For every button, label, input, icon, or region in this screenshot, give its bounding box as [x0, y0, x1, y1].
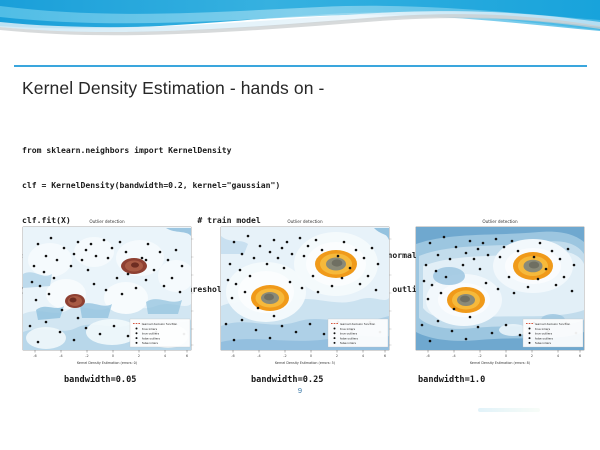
legend-label: true outliers	[535, 332, 553, 336]
legend-label: learned decision function	[340, 322, 376, 326]
legend-label: false outliers	[142, 336, 161, 340]
svg-text:4: 4	[557, 354, 559, 358]
svg-text:6: 6	[186, 354, 188, 358]
legend-label: false inliers	[535, 341, 552, 345]
svg-text:6: 6	[579, 354, 581, 358]
legend-label: true inliers	[535, 327, 551, 331]
svg-text:-6: -6	[426, 354, 429, 358]
cluster-region-a	[447, 287, 485, 313]
title-divider	[14, 65, 587, 67]
svg-text:-2: -2	[283, 354, 286, 358]
plot-legend: learned decision function true inliers t…	[523, 319, 583, 347]
x-axis-ticks	[233, 350, 385, 353]
x-axis-tick-labels: -6-4-2 024 6	[33, 354, 188, 358]
code-line: clf = KernelDensity(bandwidth=0.2, kerne…	[22, 180, 582, 192]
svg-text:-4: -4	[59, 354, 62, 358]
plot-title: Outlier detection	[287, 219, 323, 224]
y-axis-ticks	[191, 239, 194, 345]
cluster-region-b	[315, 250, 357, 278]
svg-text:0: 0	[310, 354, 312, 358]
plot-panel-bandwidth-1-0: Outlier detection	[409, 214, 591, 374]
plot-legend: learned decision function true inliers t…	[328, 319, 388, 347]
legend-label: false inliers	[142, 341, 159, 345]
plot-title: Outlier detection	[482, 219, 518, 224]
page-number: 9	[0, 386, 600, 395]
page-title: Kernel Density Estimation - hands on -	[22, 78, 324, 99]
legend-label: true inliers	[340, 327, 356, 331]
svg-text:2: 2	[138, 354, 140, 358]
cluster-region-a	[65, 294, 85, 308]
svg-text:-2: -2	[85, 354, 88, 358]
svg-text:2: 2	[531, 354, 533, 358]
x-axis-ticks	[35, 350, 187, 353]
legend-label: false inliers	[340, 341, 357, 345]
svg-text:-4: -4	[257, 354, 260, 358]
svg-text:0: 0	[112, 354, 114, 358]
cluster-region-b	[121, 258, 147, 274]
footer-artifact	[478, 408, 540, 412]
svg-text:4: 4	[362, 354, 364, 358]
x-axis-tick-labels: -6-4-2 024 6	[426, 354, 581, 358]
svg-text:-6: -6	[33, 354, 36, 358]
svg-text:-2: -2	[478, 354, 481, 358]
legend-label: learned decision function	[535, 322, 571, 326]
plots-row: Outlier detection	[0, 214, 600, 374]
plot-legend: learned decision function true inliers t…	[130, 319, 190, 347]
x-axis-tick-labels: -6-4-2 024 6	[231, 354, 386, 358]
x-axis-label: Kernel Density Estimation (errors: 5)	[275, 361, 335, 365]
legend-label: false outliers	[535, 336, 554, 340]
x-axis-ticks	[428, 350, 580, 353]
plot-caption-bandwidth-0-25: bandwidth=0.25	[251, 375, 323, 385]
plot-panel-bandwidth-0-05: Outlier detection	[16, 214, 198, 374]
legend-label: true outliers	[142, 332, 160, 336]
plot-caption-bandwidth-0-05: bandwidth=0.05	[64, 375, 136, 385]
cluster-region-a	[251, 285, 289, 311]
svg-text:0: 0	[505, 354, 507, 358]
svg-text:-4: -4	[452, 354, 455, 358]
svg-text:4: 4	[164, 354, 166, 358]
x-axis-label: Kernel Density Estimation (errors: 0)	[77, 361, 137, 365]
svg-text:2: 2	[336, 354, 338, 358]
legend-label: true outliers	[340, 332, 358, 336]
svg-text:-6: -6	[231, 354, 234, 358]
y-axis-ticks	[389, 239, 392, 345]
legend-label: learned decision function	[142, 322, 178, 326]
svg-text:6: 6	[384, 354, 386, 358]
code-line: from sklearn.neighbors import KernelDens…	[22, 145, 582, 157]
legend-label: false outliers	[340, 336, 359, 340]
plot-caption-bandwidth-1-0: bandwidth=1.0	[418, 375, 485, 385]
x-axis-label: Kernel Density Estimation (errors: 8)	[470, 361, 530, 365]
header-wave-graphic	[0, 0, 600, 48]
legend-label: true inliers	[142, 327, 158, 331]
plot-title: Outlier detection	[89, 219, 125, 224]
plot-panel-bandwidth-0-25: Outlier detection	[214, 214, 396, 374]
